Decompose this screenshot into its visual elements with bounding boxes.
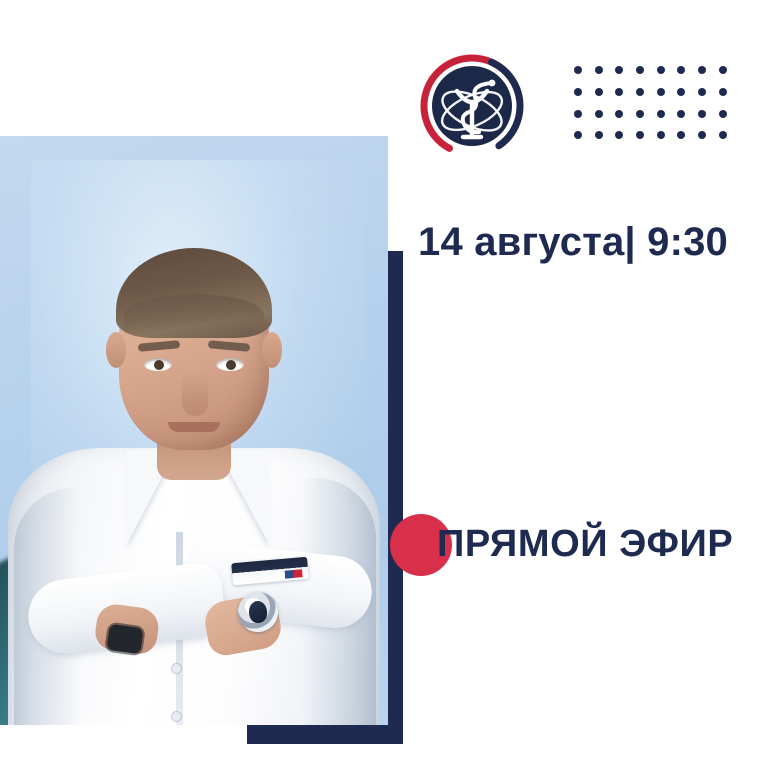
doctor-figure (0, 136, 388, 725)
nose (182, 372, 208, 416)
ear-left (106, 332, 126, 368)
live-broadcast-label: ПРЯМОЙ ЭФИР (437, 521, 733, 569)
decorative-dot-grid (574, 66, 740, 153)
grid-dot (574, 88, 582, 96)
pupil-left (154, 360, 164, 370)
doctor-portrait (0, 136, 388, 725)
grid-dot (595, 88, 603, 96)
grid-dot (636, 110, 644, 118)
medical-emblem-logo (419, 53, 525, 159)
grid-dot (636, 131, 644, 139)
grid-dot (574, 131, 582, 139)
grid-dot (719, 110, 727, 118)
grid-dot (636, 66, 644, 74)
coat-button (172, 712, 181, 721)
grid-dot (698, 131, 706, 139)
grid-dot (574, 66, 582, 74)
grid-dot (636, 88, 644, 96)
grid-dot (677, 131, 685, 139)
grid-dot (719, 88, 727, 96)
broadcast-datetime: 14 августа| 9:30 (418, 222, 728, 262)
grid-dot (615, 110, 623, 118)
grid-dot (574, 110, 582, 118)
grid-dot (698, 88, 706, 96)
grid-dot (698, 110, 706, 118)
wristwatch (106, 624, 143, 654)
grid-dot (657, 66, 665, 74)
grid-dot (657, 88, 665, 96)
ear-right (262, 332, 282, 368)
grid-dot (595, 131, 603, 139)
grid-dot (677, 66, 685, 74)
live-broadcast-poster: 14 августа| 9:30 ПРЯМОЙ ЭФИР (0, 0, 768, 768)
mouth (168, 422, 220, 432)
grid-dot (595, 110, 603, 118)
grid-dot (615, 66, 623, 74)
coat-button (172, 664, 181, 673)
grid-dot (677, 88, 685, 96)
grid-dot (719, 131, 727, 139)
grid-dot (698, 66, 706, 74)
grid-dot (719, 66, 727, 74)
hair (116, 248, 272, 338)
grid-dot (677, 110, 685, 118)
grid-dot (595, 66, 603, 74)
grid-dot (615, 131, 623, 139)
flag-patch-icon (276, 569, 303, 579)
grid-dot (657, 131, 665, 139)
grid-dot (615, 88, 623, 96)
grid-dot (657, 110, 665, 118)
pupil-right (226, 360, 236, 370)
